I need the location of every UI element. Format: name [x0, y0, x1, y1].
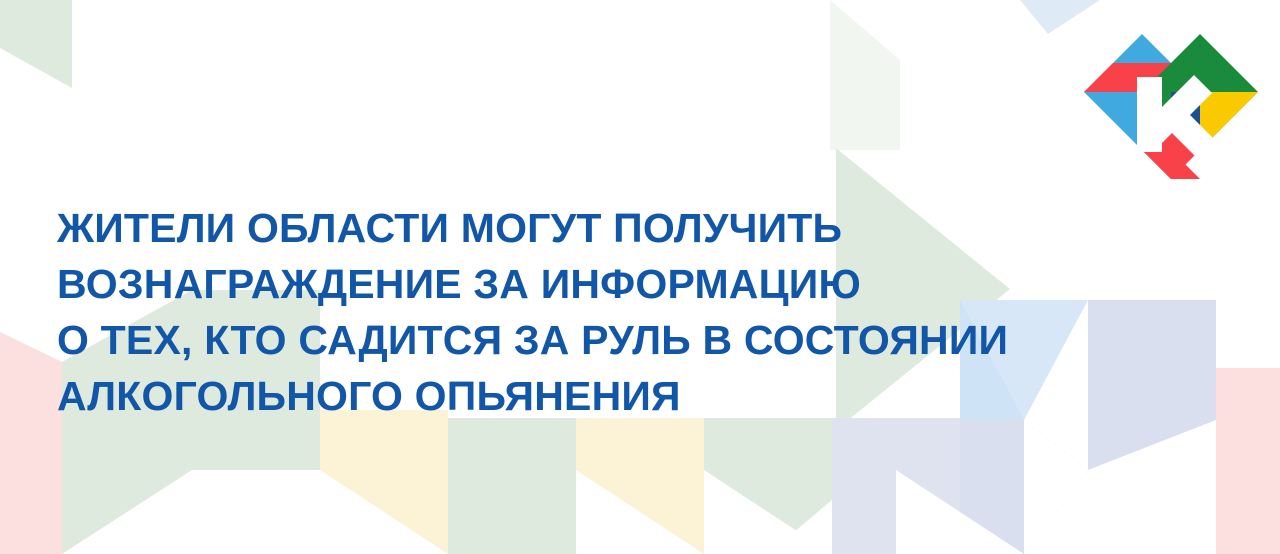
headline-line-4: АЛКОГОЛЬНОГО ОПЬЯНЕНИЯ [57, 368, 1257, 424]
headline-line-1: ЖИТЕЛИ ОБЛАСТИ МОГУТ ПОЛУЧИТЬ [57, 200, 1257, 256]
headline: ЖИТЕЛИ ОБЛАСТИ МОГУТ ПОЛУЧИТЬ ВОЗНАГРАЖД… [57, 200, 1257, 424]
headline-line-2: ВОЗНАГРАЖДЕНИЕ ЗА ИНФОРМАЦИЮ [57, 256, 1257, 312]
promo-banner: ЖИТЕЛИ ОБЛАСТИ МОГУТ ПОЛУЧИТЬ ВОЗНАГРАЖД… [0, 0, 1280, 554]
k-diamond-logo[interactable] [1082, 22, 1260, 182]
headline-line-3: О ТЕХ, КТО САДИТСЯ ЗА РУЛЬ В СОСТОЯНИИ [57, 312, 1257, 368]
